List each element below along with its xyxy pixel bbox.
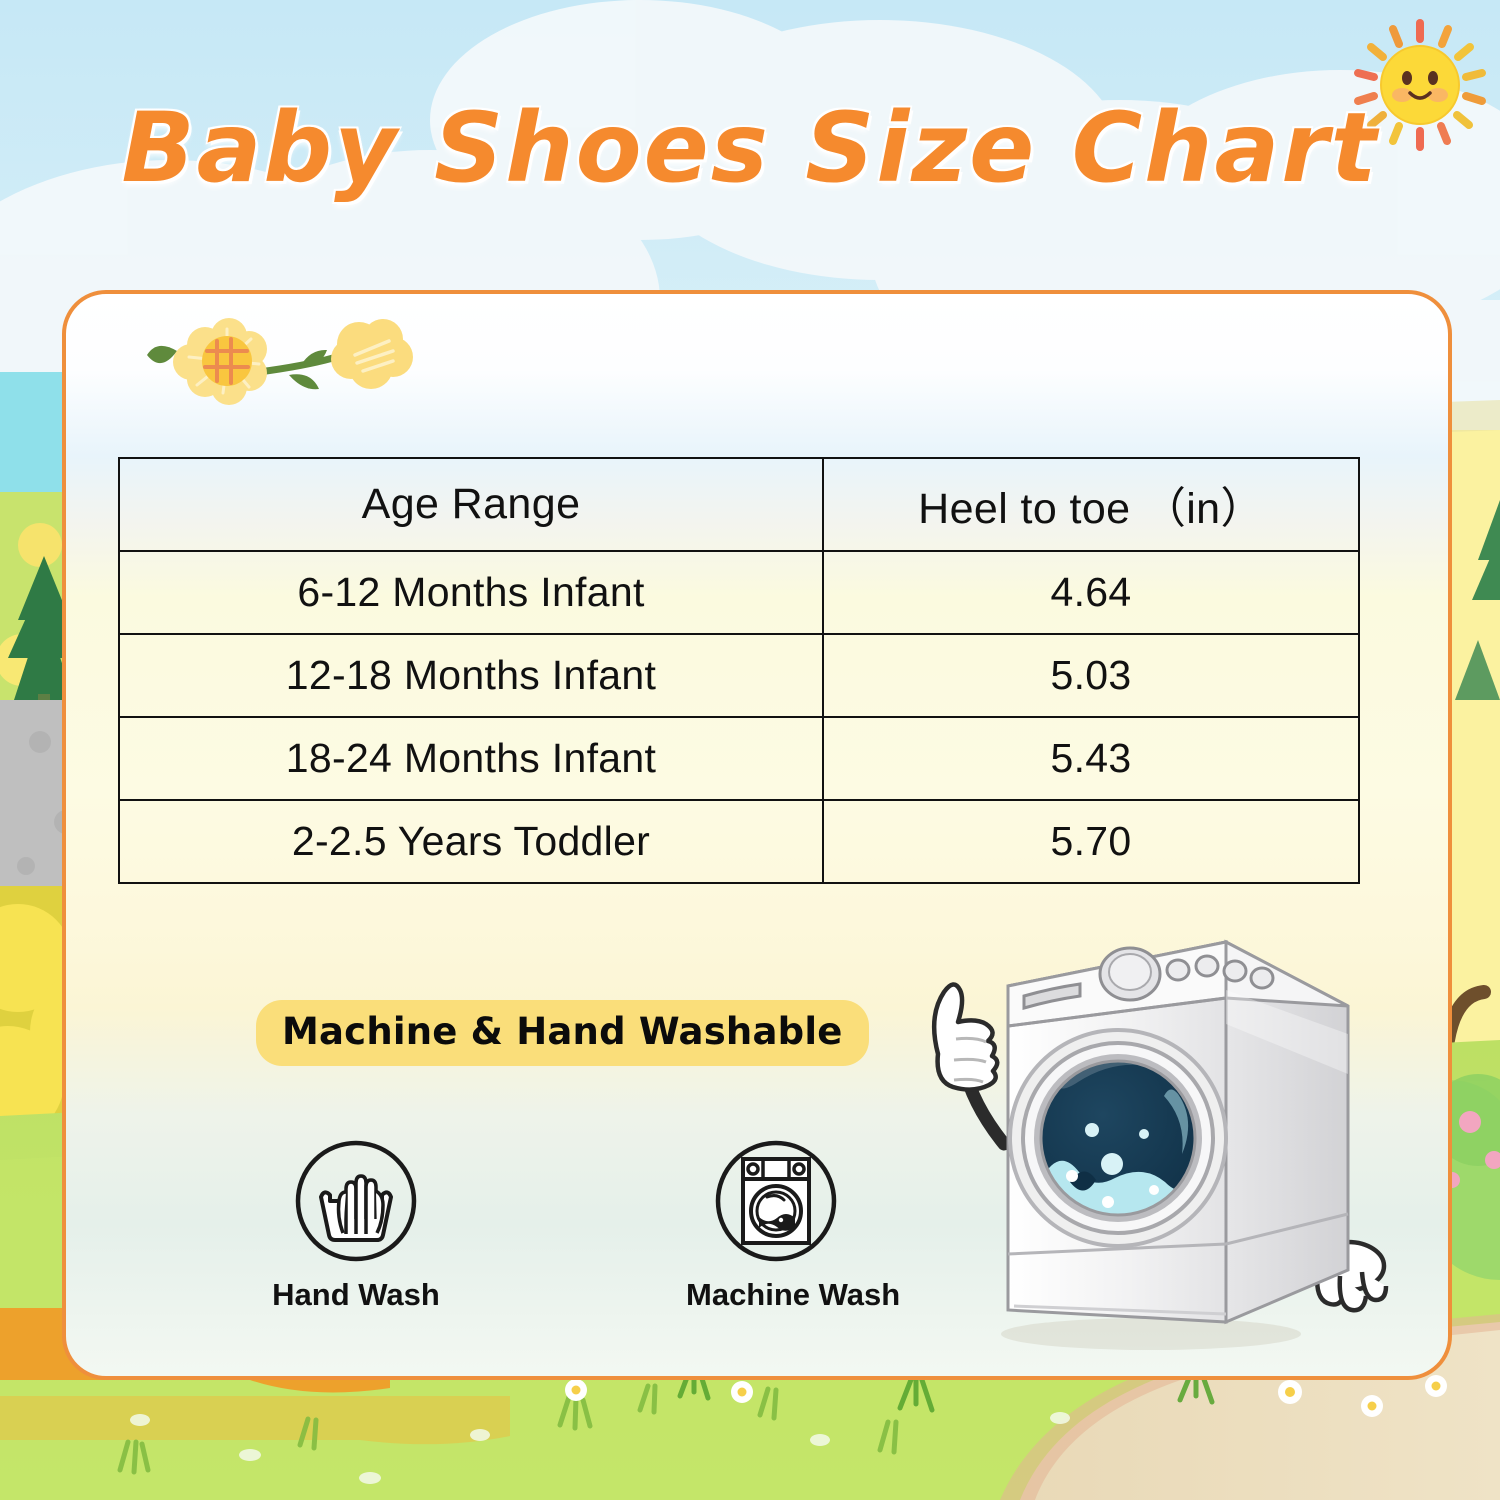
- page-title: Baby Shoes Size Chart: [0, 92, 1500, 204]
- care-instructions-group: Hand Wash Machine Wash: [266, 1139, 866, 1313]
- care-label-machine-wash: Machine Wash: [686, 1277, 866, 1313]
- table-row: 6-12 Months Infant 4.64: [119, 551, 1359, 634]
- table-row: 12-18 Months Infant 5.03: [119, 634, 1359, 717]
- cell-heel-to-toe: 5.43: [823, 717, 1359, 800]
- flower-sprig-icon: [131, 309, 431, 419]
- table-header-row: Age Range Heel to toe （in）: [119, 458, 1359, 551]
- cell-heel-to-toe: 5.70: [823, 800, 1359, 883]
- column-header-heel-to-toe: Heel to toe （in）: [823, 458, 1359, 551]
- washing-machine-mascot: [896, 914, 1416, 1354]
- cell-age-range: 2-2.5 Years Toddler: [119, 800, 823, 883]
- care-item-machine-wash: Machine Wash: [686, 1139, 866, 1313]
- cell-age-range: 12-18 Months Infant: [119, 634, 823, 717]
- cell-age-range: 18-24 Months Infant: [119, 717, 823, 800]
- cell-age-range: 6-12 Months Infant: [119, 551, 823, 634]
- hand-wash-icon: [291, 1139, 421, 1269]
- washable-banner: Machine & Hand Washable: [256, 1000, 869, 1066]
- size-chart-card: Age Range Heel to toe （in） 6-12 Months I…: [62, 290, 1452, 1380]
- cell-heel-to-toe: 4.64: [823, 551, 1359, 634]
- size-chart-table: Age Range Heel to toe （in） 6-12 Months I…: [118, 457, 1360, 884]
- table-row: 2-2.5 Years Toddler 5.70: [119, 800, 1359, 883]
- care-item-hand-wash: Hand Wash: [266, 1139, 446, 1313]
- cell-heel-to-toe: 5.03: [823, 634, 1359, 717]
- machine-wash-icon: [711, 1139, 841, 1269]
- table-row: 18-24 Months Infant 5.43: [119, 717, 1359, 800]
- column-header-age-range: Age Range: [119, 458, 823, 551]
- care-label-hand-wash: Hand Wash: [266, 1277, 446, 1313]
